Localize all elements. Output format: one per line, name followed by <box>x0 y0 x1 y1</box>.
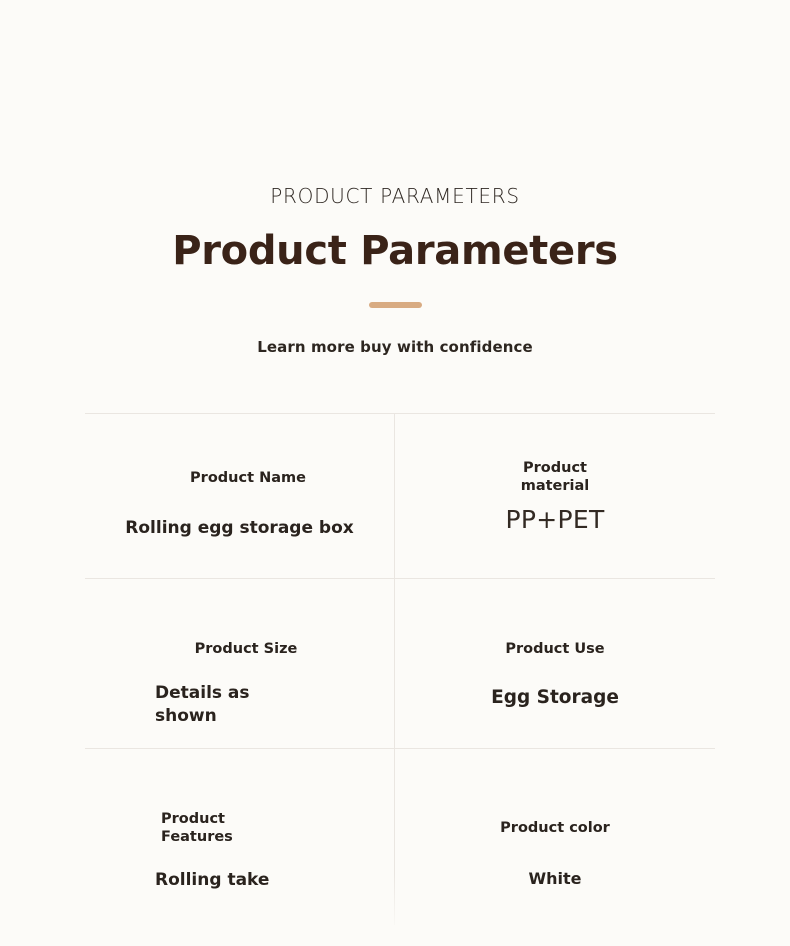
spec-label: Product Use <box>395 640 715 658</box>
spec-label-line1: Product <box>523 460 587 476</box>
accent-divider <box>369 302 422 308</box>
spec-label: Product material <box>395 459 715 495</box>
spec-label-line2: material <box>521 478 590 494</box>
spec-value: Rolling egg storage box <box>85 517 394 540</box>
spec-cell-product-use: Product Use Egg Storage <box>395 579 715 748</box>
spec-cell-product-features: Product Features Rolling take <box>85 749 394 946</box>
spec-table: Product Name Rolling egg storage box Pro… <box>85 413 715 946</box>
spec-value: White <box>395 867 715 890</box>
spec-label-line2: Features <box>161 829 233 845</box>
page-title: Product Parameters <box>0 228 790 274</box>
spec-label: Product Size <box>85 640 394 658</box>
spec-value: PP+PET <box>395 508 715 531</box>
product-parameters-page: PRODUCT PARAMETERS Product Parameters Le… <box>0 0 790 946</box>
spec-label: Product Name <box>85 469 394 487</box>
spec-cell-product-name: Product Name Rolling egg storage box <box>85 413 394 578</box>
eyebrow-text: PRODUCT PARAMETERS <box>0 184 790 208</box>
page-subtitle: Learn more buy with confidence <box>0 338 790 356</box>
spec-label-line1: Product <box>161 811 225 827</box>
spec-label: Product color <box>395 819 715 837</box>
spec-label: Product Features <box>161 810 341 846</box>
spec-cell-product-color: Product color White <box>395 749 715 946</box>
spec-cell-product-size: Product Size Details as shown <box>85 579 394 748</box>
spec-cell-product-material: Product material PP+PET <box>395 413 715 578</box>
spec-value: Egg Storage <box>395 686 715 709</box>
spec-value: Details as shown <box>155 682 315 728</box>
spec-value: Rolling take <box>155 869 355 892</box>
